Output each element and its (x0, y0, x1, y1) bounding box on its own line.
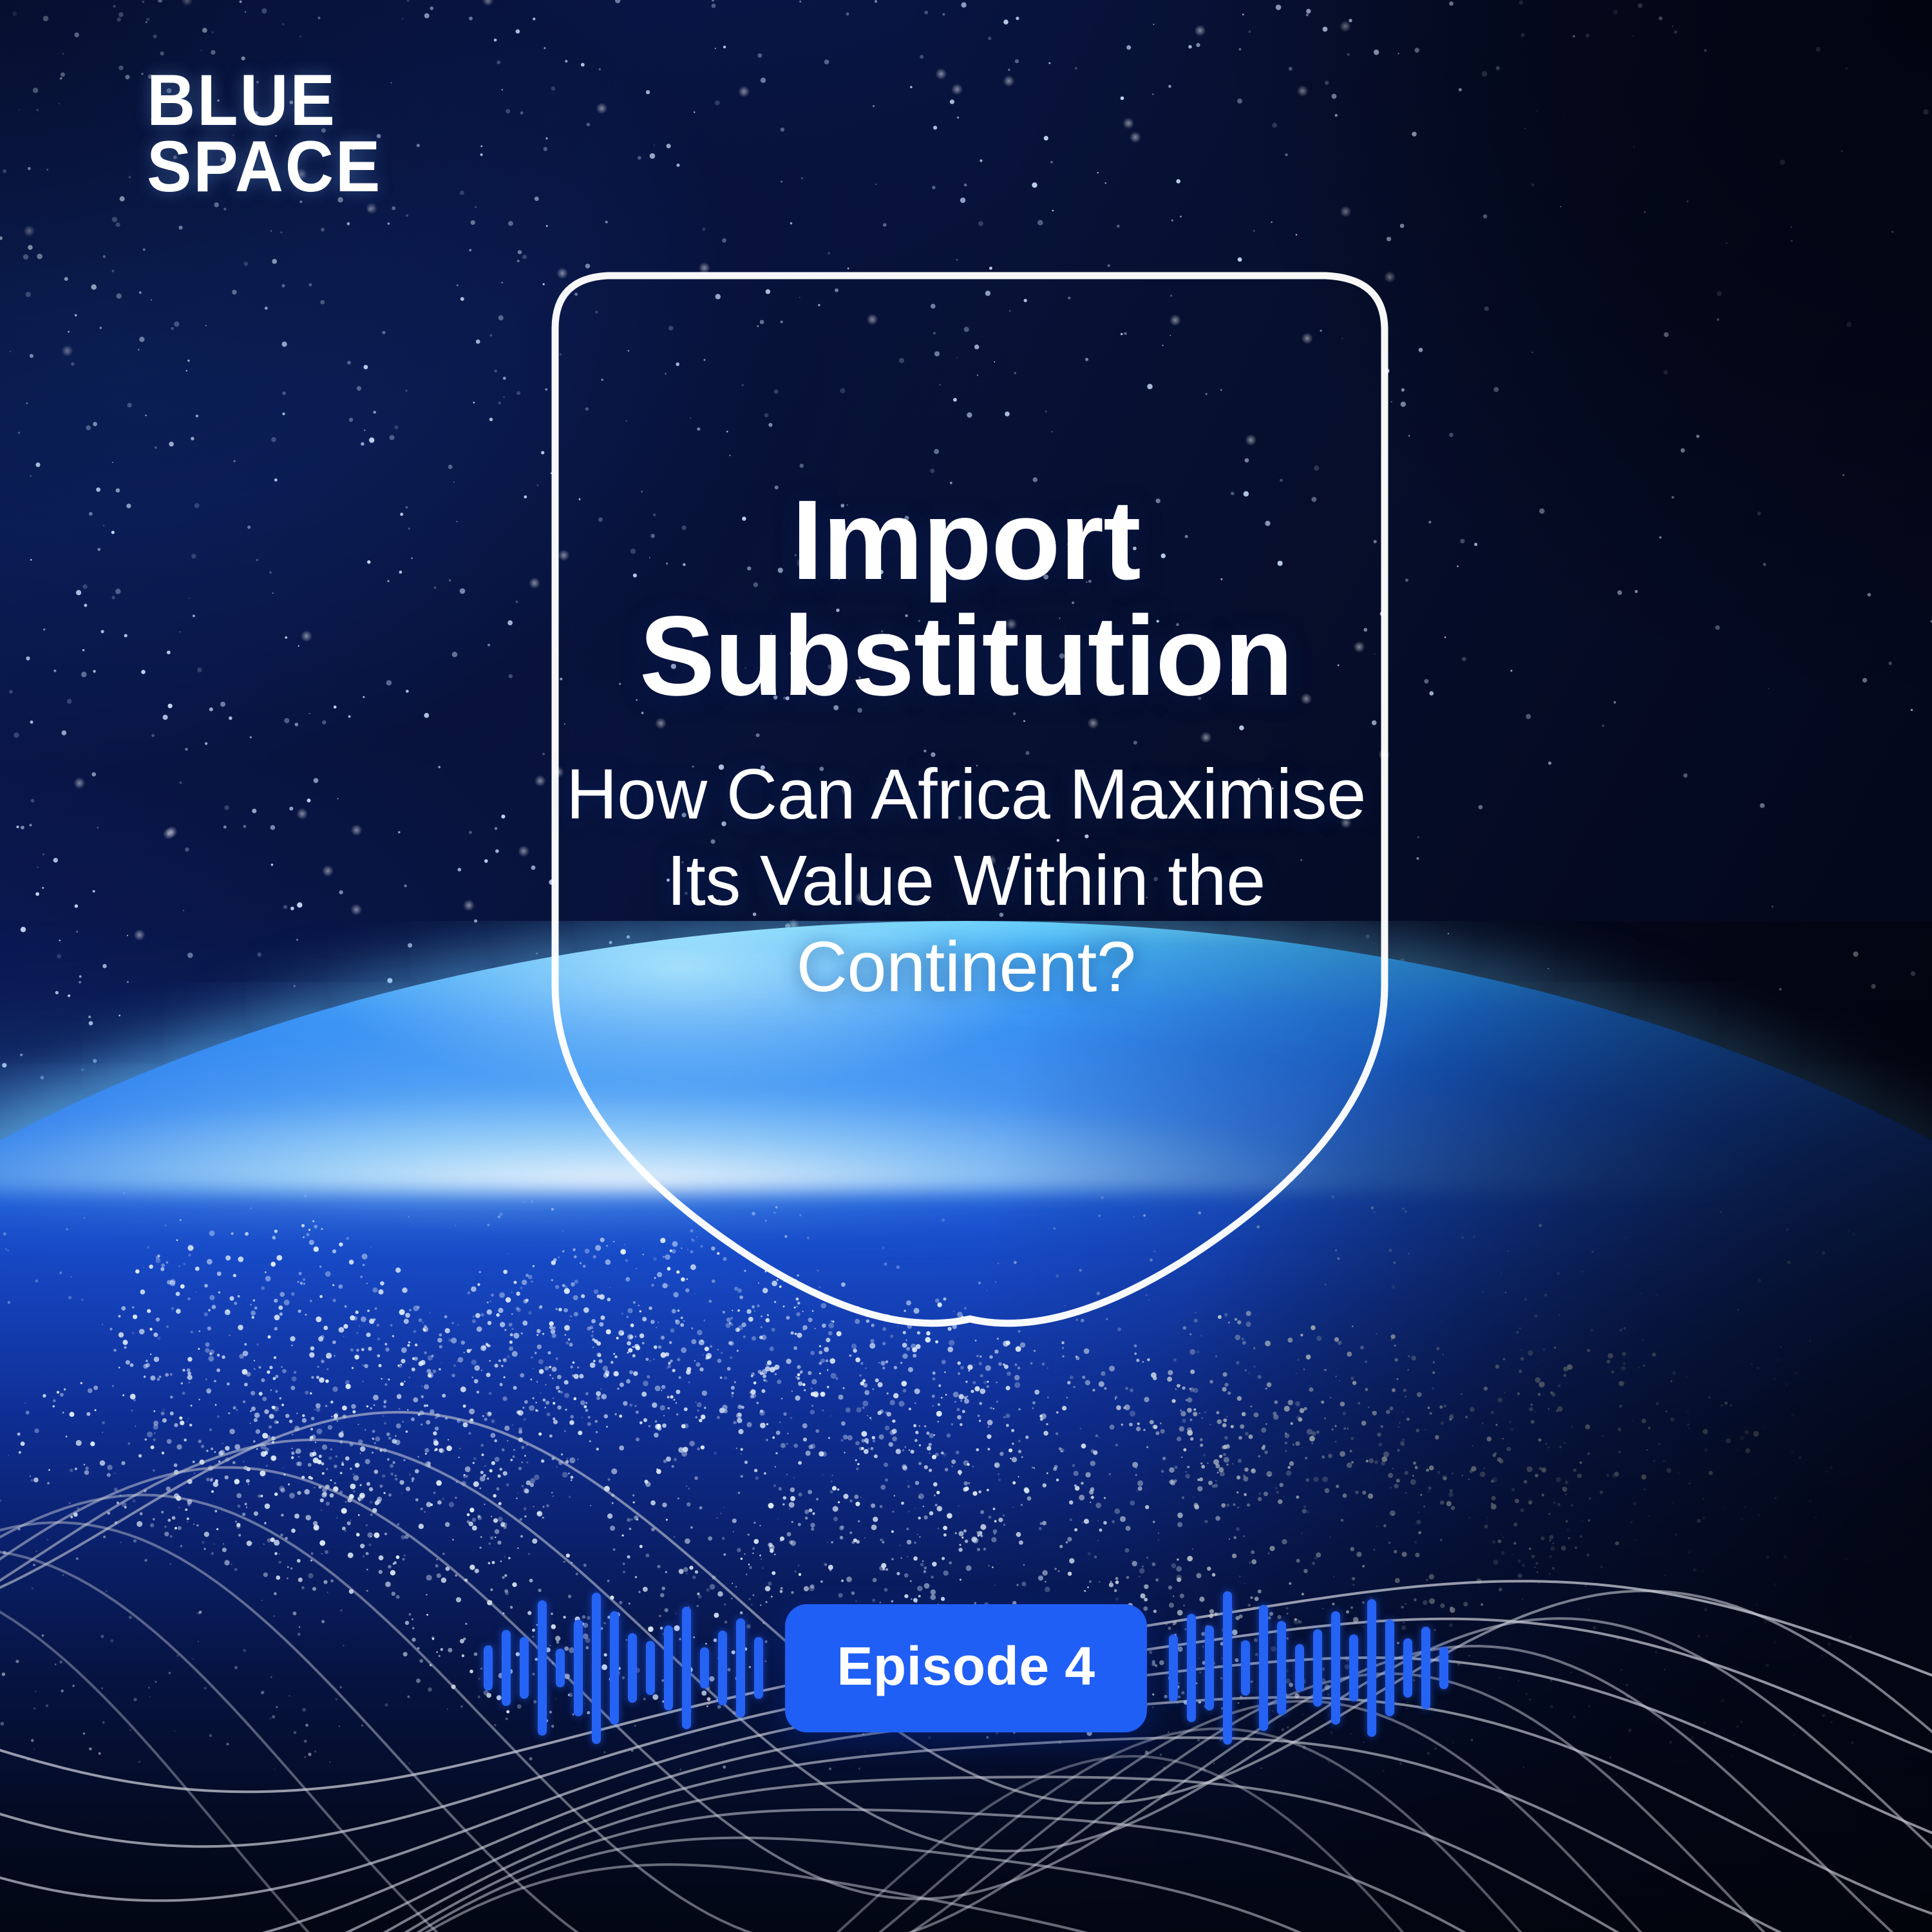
audio-waveform-right-icon (1169, 1571, 1448, 1765)
episode-badge-row: Episode 4 (0, 1571, 1932, 1765)
audio-waveform-left-icon (484, 1571, 763, 1765)
podcast-cover-artwork: BLUE SPACE Import Substitution How Can A… (0, 0, 1932, 1932)
episode-badge[interactable]: Episode 4 (785, 1604, 1146, 1732)
